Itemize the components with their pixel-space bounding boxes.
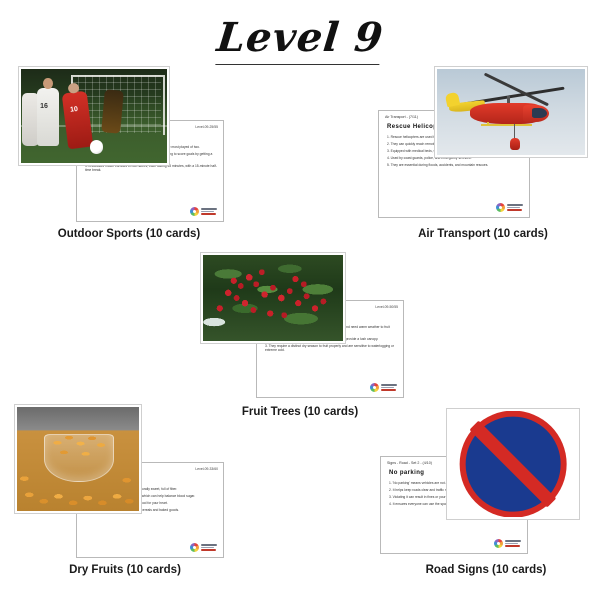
set-caption: Fruit Trees (10 cards) <box>190 406 410 418</box>
photo-air-transport <box>437 69 585 155</box>
card-stack: Level-09-25/55 1. Soccer is the most pop… <box>18 66 240 226</box>
brand-logo <box>496 203 523 212</box>
set-outdoor-sports[interactable]: Level-09-25/55 1. Soccer is the most pop… <box>18 66 240 226</box>
brand-logo-text <box>201 208 217 214</box>
card-stack: Signs - Road - Set 2 - (4/10) No parking… <box>380 436 592 562</box>
set-caption: Outdoor Sports (10 cards) <box>18 228 240 240</box>
set-caption: Road Signs (10 cards) <box>380 564 592 576</box>
set-fruit-trees[interactable]: Level-09-50/55 1. They grow best in trop… <box>190 252 410 404</box>
brand-logo-icon <box>190 543 199 552</box>
page-title: Level 9 <box>208 14 392 65</box>
tail-fin <box>445 92 461 107</box>
soccer-ball <box>90 140 103 153</box>
text-card-line: 3. They require a distinct dry season to… <box>265 344 397 354</box>
photo-card[interactable] <box>14 404 142 514</box>
player-number: 10 <box>69 105 78 113</box>
brand-logo-icon <box>370 383 379 392</box>
card-stack: Level-09-33/60 1. Raisins are dried grap… <box>14 440 236 562</box>
set-caption: Air Transport (10 cards) <box>378 228 588 240</box>
brand-logo-icon <box>496 203 505 212</box>
brand-logo <box>190 543 217 552</box>
set-air-transport[interactable]: Air Transport - (7/11) Rescue Helicopter… <box>378 66 588 226</box>
player-white: 16 <box>37 88 59 146</box>
photo-road-signs <box>449 411 577 517</box>
photo-card[interactable] <box>200 252 346 344</box>
bowl-contents <box>46 428 109 465</box>
brand-logo-text <box>507 204 523 210</box>
text-card-title: No parking <box>389 470 424 476</box>
text-card-code: Level-09-33/60 <box>195 467 218 471</box>
berry-clusters <box>203 255 343 341</box>
text-card-header: Signs - Road - Set 2 - (4/10) <box>387 461 432 465</box>
brand-logo-text <box>201 544 217 550</box>
set-road-signs[interactable]: Signs - Road - Set 2 - (4/10) No parking… <box>380 436 592 562</box>
brand-logo-icon <box>190 207 199 216</box>
brand-logo <box>190 207 217 216</box>
text-card-code: Level-09-50/55 <box>375 305 398 309</box>
card-stack: Level-09-50/55 1. They grow best in trop… <box>190 252 410 404</box>
text-card-code: Level-09-25/55 <box>195 125 218 129</box>
photo-card[interactable]: 16 10 <box>18 66 170 166</box>
brand-logo <box>370 383 397 392</box>
rescuer-figure <box>510 138 520 150</box>
flashcard-catalog-page: Level 9 Level-09-25/55 1. Soccer is the … <box>0 0 600 600</box>
goalkeeper <box>101 89 124 134</box>
page-title-container: Level 9 <box>0 14 600 65</box>
card-stack: Air Transport - (7/11) Rescue Helicopter… <box>378 66 588 226</box>
photo-card[interactable] <box>434 66 588 158</box>
text-card-header: Air Transport - (7/11) <box>385 115 418 119</box>
photo-dry-fruits <box>17 407 139 511</box>
photo-fruit-trees <box>203 255 343 341</box>
text-card-line: 5. They are essential during floods, acc… <box>387 163 523 168</box>
rotor-blade <box>484 72 549 105</box>
brand-logo <box>494 539 521 548</box>
landing-skid <box>487 122 489 125</box>
player-number: 16 <box>40 103 48 110</box>
set-caption: Dry Fruits (10 cards) <box>14 564 236 576</box>
set-dry-fruits[interactable]: Level-09-33/60 1. Raisins are dried grap… <box>14 440 236 562</box>
brand-logo-text <box>505 540 521 546</box>
brand-logo-text <box>381 384 397 390</box>
photo-card[interactable] <box>446 408 580 520</box>
photo-outdoor-sports: 16 10 <box>21 69 167 163</box>
cockpit-window <box>532 108 547 118</box>
brand-logo-icon <box>494 539 503 548</box>
